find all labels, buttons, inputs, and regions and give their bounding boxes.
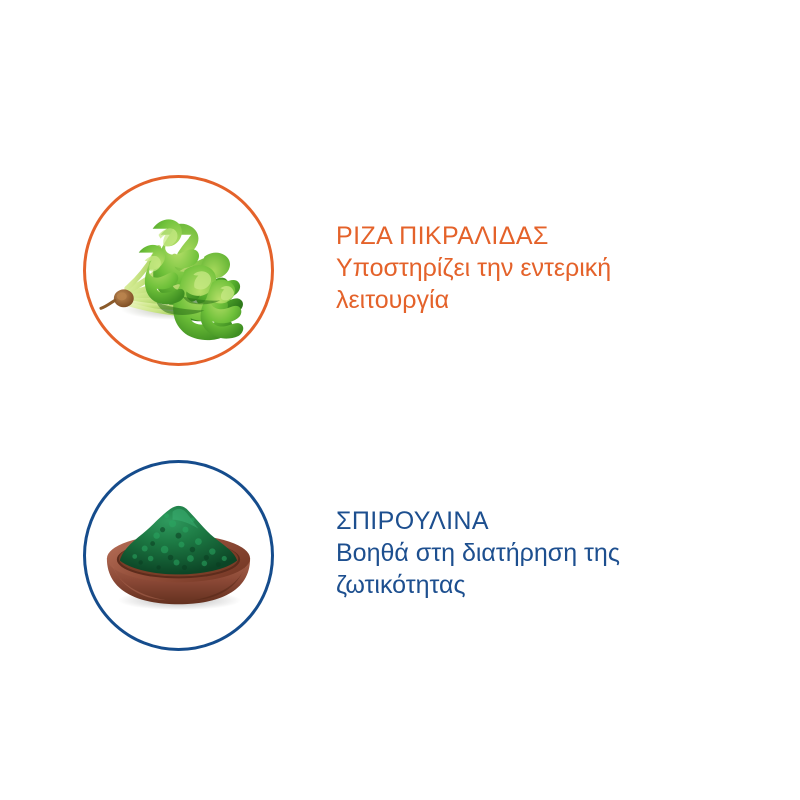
spirulina-text-block: ΣΠΙΡΟΥΛΙΝΑ Βοηθά στη διατήρηση της ζωτικ… xyxy=(336,505,800,605)
feature-row-spirulina: ΣΠΙΡΟΥΛΙΝΑ Βοηθά στη διατήρηση της ζωτικ… xyxy=(0,455,800,655)
spirulina-description: Βοηθά στη διατήρηση της ζωτικότητας xyxy=(336,537,666,601)
spirulina-title: ΣΠΙΡΟΥΛΙΝΑ xyxy=(336,505,800,537)
dandelion-description: Υποστηρίζει την εντερική λειτουργία xyxy=(336,252,666,316)
dandelion-image-badge xyxy=(83,175,274,366)
feature-row-dandelion: ΡΙΖΑ ΠΙΚΡΑΛΙΔΑΣ Υποστηρίζει την εντερική… xyxy=(0,170,800,370)
dandelion-title: ΡΙΖΑ ΠΙΚΡΑΛΙΔΑΣ xyxy=(336,220,800,252)
spirulina-image-badge xyxy=(83,460,274,651)
ingredient-benefits-infographic: ΡΙΖΑ ΠΙΚΡΑΛΙΔΑΣ Υποστηρίζει την εντερική… xyxy=(0,0,800,800)
dandelion-greens-icon xyxy=(87,179,270,362)
spirulina-bowl-icon xyxy=(87,464,270,647)
dandelion-text-block: ΡΙΖΑ ΠΙΚΡΑΛΙΔΑΣ Υποστηρίζει την εντερική… xyxy=(336,220,800,320)
